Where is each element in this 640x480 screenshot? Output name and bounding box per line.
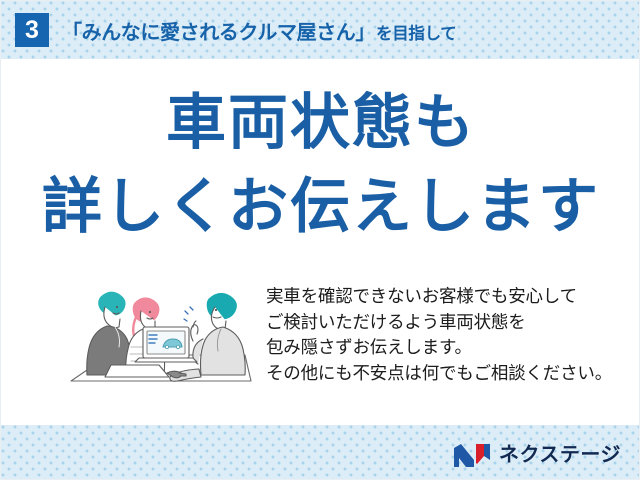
step-number-badge: 3	[15, 13, 49, 47]
header-title-suffix: を目指して	[376, 20, 457, 44]
headline-line-2: 詳しくお伝えします	[1, 177, 640, 237]
body-copy: 実車を確認できないお客様でも安心して ご検討いただけるよう車両状態を 包み隠さず…	[266, 284, 626, 386]
headline: 車両状態も 詳しくお伝えします	[1, 93, 640, 237]
body-copy-line-2: ご検討いただけるよう車両状態を	[266, 310, 626, 336]
body-copy-line-1: 実車を確認できないお客様でも安心して	[266, 284, 626, 310]
brand-logo-text: ネクステージ	[499, 445, 621, 465]
header: 3 「みんなに愛されるクルマ屋さん」 を目指して	[1, 1, 640, 59]
brand-logo: ネクステージ	[453, 441, 621, 469]
promotional-slide: 3 「みんなに愛されるクルマ屋さん」 を目指して 車両状態も 詳しくお伝えします	[0, 0, 640, 480]
header-title: 「みんなに愛されるクルマ屋さん」 を目指して	[62, 16, 457, 45]
body-copy-line-4: その他にも不安点は何でもご相談ください。	[266, 361, 626, 387]
body-copy-line-3: 包み隠さずお伝えします。	[266, 335, 626, 361]
header-title-quoted: 「みんなに愛されるクルマ屋さん」	[62, 16, 375, 45]
customer-man	[87, 292, 132, 375]
consultation-illustration	[63, 277, 258, 397]
headline-line-1: 車両状態も	[1, 93, 640, 153]
nextage-n-mark-icon	[453, 443, 491, 468]
laptop	[135, 327, 197, 362]
